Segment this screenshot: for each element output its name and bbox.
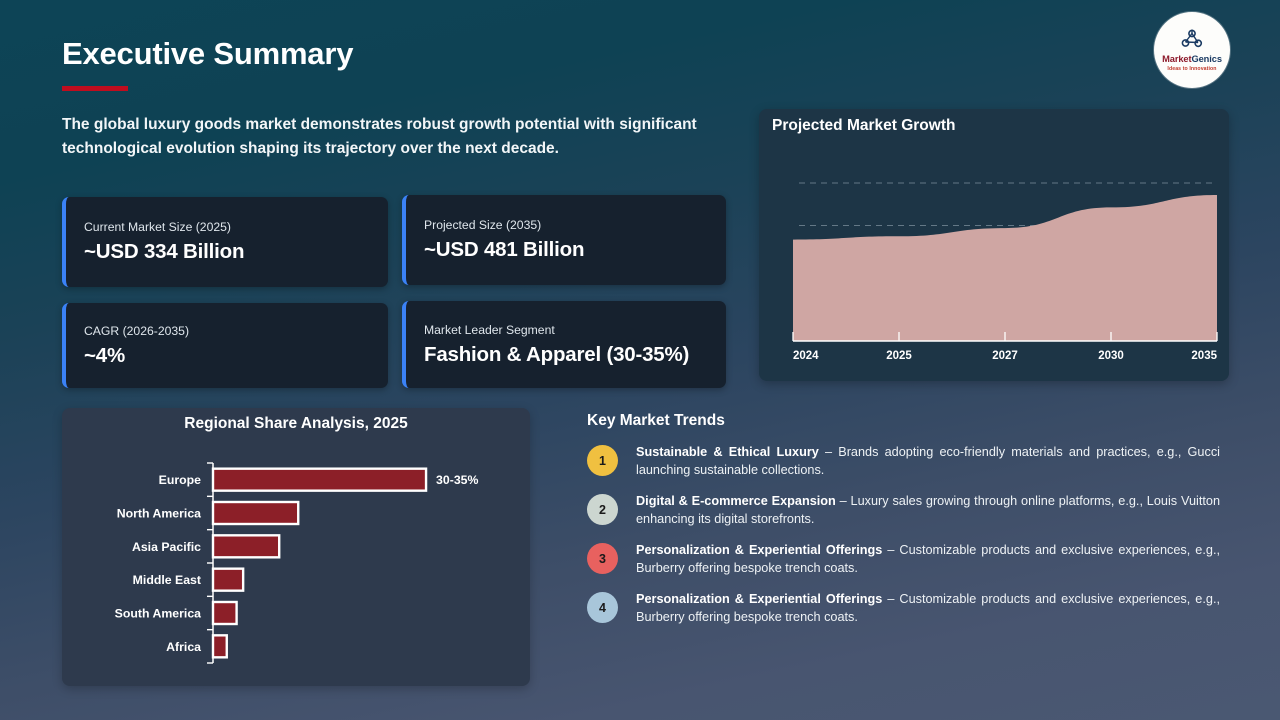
trend-heading: Digital & E-commerce Expansion — [636, 494, 836, 508]
trend-number-badge: 1 — [587, 445, 618, 476]
bar-asia-pacific — [213, 535, 279, 557]
region-chart-title: Regional Share Analysis, 2025 — [62, 415, 530, 433]
x-axis-tick-label: 2027 — [992, 350, 1018, 362]
kpi-card-current-market-size: Current Market Size (2025) ~USD 334 Bill… — [62, 197, 388, 287]
network-nodes-icon — [1179, 28, 1205, 54]
bar-category-label: Asia Pacific — [132, 540, 201, 554]
x-axis-tick-label: 2025 — [886, 350, 912, 362]
x-axis-tick-label: 2035 — [1191, 350, 1217, 362]
kpi-value: ~USD 481 Billion — [424, 238, 708, 262]
growth-chart-title: Projected Market Growth — [772, 117, 955, 135]
bar-category-label: Middle East — [133, 573, 201, 587]
logo-tagline: Ideas to Innovation — [1167, 66, 1216, 72]
bar-middle-east — [213, 569, 243, 591]
trends-list: 1Sustainable & Ethical Luxury – Brands a… — [587, 443, 1227, 626]
bar-category-label: Europe — [159, 473, 202, 487]
bar-europe — [213, 469, 426, 491]
projected-market-growth-chart: 20242025202720302035 — [759, 143, 1229, 381]
kpi-label: CAGR (2026-2035) — [84, 324, 370, 338]
trend-text: Digital & E-commerce Expansion – Luxury … — [636, 492, 1220, 528]
trend-heading: Sustainable & Ethical Luxury — [636, 445, 819, 459]
projected-market-growth-panel: Projected Market Growth 2024202520272030… — [759, 109, 1229, 381]
logo-wordmark: MarketGenics — [1162, 55, 1222, 64]
trend-item: 1Sustainable & Ethical Luxury – Brands a… — [587, 443, 1227, 479]
kpi-card-cagr: CAGR (2026-2035) ~4% — [62, 303, 388, 388]
kpi-value: ~4% — [84, 344, 370, 368]
bar-category-label: North America — [117, 507, 201, 521]
kpi-value: Fashion & Apparel (30-35%) — [424, 343, 708, 367]
kpi-label: Projected Size (2035) — [424, 218, 708, 232]
bar-value-label: 30-35% — [436, 473, 478, 487]
page-subtitle: The global luxury goods market demonstra… — [62, 113, 702, 162]
trend-heading: Personalization & Experiential Offerings — [636, 543, 882, 557]
key-market-trends-section: Key Market Trends 1Sustainable & Ethical… — [587, 412, 1227, 639]
trend-item: 3Personalization & Experiential Offering… — [587, 541, 1227, 577]
trend-text: Sustainable & Ethical Luxury – Brands ad… — [636, 443, 1220, 479]
trend-number-badge: 4 — [587, 592, 618, 623]
x-axis-tick-label: 2024 — [793, 350, 819, 362]
kpi-card-projected-size: Projected Size (2035) ~USD 481 Billion — [402, 195, 726, 285]
trends-title: Key Market Trends — [587, 412, 1227, 430]
kpi-value: ~USD 334 Billion — [84, 240, 370, 264]
trend-item: 4Personalization & Experiential Offering… — [587, 590, 1227, 626]
trend-text: Personalization & Experiential Offerings… — [636, 590, 1220, 626]
page-title: Executive Summary — [62, 36, 353, 72]
logo-word-market: Market — [1162, 54, 1191, 64]
regional-share-chart: Europe30-35%North AmericaAsia PacificMid… — [62, 438, 530, 686]
kpi-label: Market Leader Segment — [424, 323, 708, 337]
trend-item: 2Digital & E-commerce Expansion – Luxury… — [587, 492, 1227, 528]
trend-text: Personalization & Experiential Offerings… — [636, 541, 1220, 577]
title-underline-rule — [62, 86, 128, 91]
kpi-label: Current Market Size (2025) — [84, 220, 370, 234]
brand-logo: MarketGenics Ideas to Innovation — [1154, 12, 1230, 88]
x-axis-tick-label: 2030 — [1098, 350, 1124, 362]
bar-north-america — [213, 502, 298, 524]
bar-south-america — [213, 602, 237, 624]
trend-heading: Personalization & Experiential Offerings — [636, 592, 882, 606]
logo-word-genics: Genics — [1191, 54, 1221, 64]
regional-share-panel: Regional Share Analysis, 2025 Europe30-3… — [62, 408, 530, 686]
trend-number-badge: 3 — [587, 543, 618, 574]
bar-africa — [213, 635, 227, 657]
trend-number-badge: 2 — [587, 494, 618, 525]
bar-category-label: South America — [115, 607, 201, 621]
bar-category-label: Africa — [166, 640, 201, 654]
kpi-card-market-leader-segment: Market Leader Segment Fashion & Apparel … — [402, 301, 726, 388]
